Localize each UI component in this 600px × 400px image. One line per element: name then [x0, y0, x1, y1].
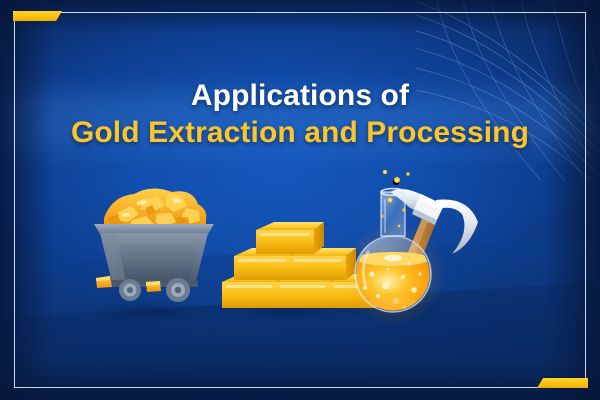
- illustration: [0, 170, 600, 345]
- gold-extraction-banner: Applications of Gold Extraction and Proc…: [0, 0, 600, 400]
- title-line-1: Applications of: [0, 78, 600, 113]
- title-line-2: Gold Extraction and Processing: [0, 115, 600, 150]
- flask-icon: [341, 170, 445, 326]
- gold-corner-bar-top-left: [13, 11, 62, 21]
- gold-corner-bar-bottom-right: [537, 378, 588, 388]
- page-title: Applications of Gold Extraction and Proc…: [0, 78, 600, 151]
- mine-cart-icon: [94, 188, 214, 302]
